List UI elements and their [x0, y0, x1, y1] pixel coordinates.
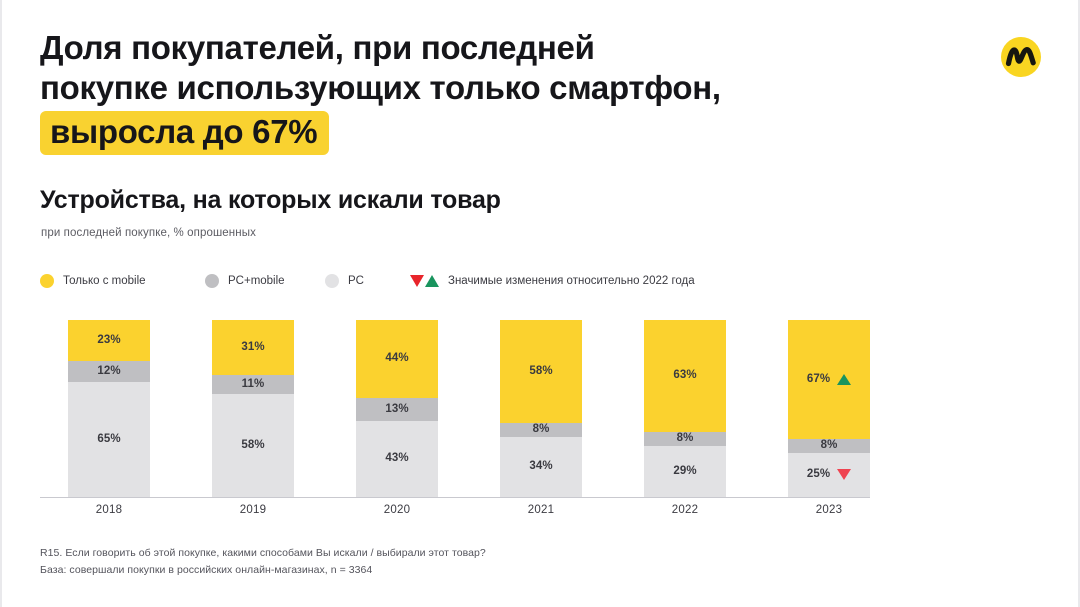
triangle-up-icon — [425, 275, 439, 287]
legend-item-label: Только с mobile — [63, 275, 146, 287]
page-title-line-1: Доля покупателей, при последней — [40, 28, 920, 68]
segment-value-label: 23% — [97, 335, 120, 347]
segment-pc-2020[interactable]: 43% — [356, 421, 438, 497]
segment-value-label: 34% — [529, 461, 552, 473]
segment-pc-plus-mobile-2022[interactable]: 8% — [644, 432, 726, 446]
x-axis-label-2021: 2021 — [500, 504, 582, 516]
triangle-down-icon — [837, 469, 851, 480]
segment-pc-2023[interactable]: 25% — [788, 453, 870, 497]
segment-mobile-only-2021[interactable]: 58% — [500, 320, 582, 423]
bar-2021[interactable]: 58%8%34% — [500, 320, 582, 497]
segment-pc-plus-mobile-2023[interactable]: 8% — [788, 439, 870, 453]
segment-pc-plus-mobile-2018[interactable]: 12% — [68, 361, 150, 382]
segment-value-label: 12% — [97, 366, 120, 378]
legend-swatch-icon — [205, 274, 219, 288]
stacked-bar-chart: 23%12%65%31%11%58%44%13%43%58%8%34%63%8%… — [40, 305, 870, 520]
x-axis-label-2022: 2022 — [644, 504, 726, 516]
segment-value-label: 65% — [97, 434, 120, 446]
slide-canvas: Доля покупателей, при последней покупке … — [0, 0, 1080, 607]
chart-title: Устройства, на которых искали товар — [40, 186, 501, 215]
segment-value-label: 44% — [385, 353, 408, 365]
x-axis-label-2020: 2020 — [356, 504, 438, 516]
segment-value-label: 25% — [807, 469, 830, 481]
segment-value-label: 13% — [385, 404, 408, 416]
significance-triangles-icon — [410, 275, 439, 287]
x-axis-labels: 201820192020202120222023 — [40, 504, 870, 524]
legend-item-label: PC — [348, 275, 364, 287]
segment-pc-2021[interactable]: 34% — [500, 437, 582, 497]
segment-value-label: 58% — [241, 440, 264, 452]
bar-2023[interactable]: 67%8%25% — [788, 320, 870, 497]
segment-value-label: 31% — [241, 342, 264, 354]
segment-pc-2019[interactable]: 58% — [212, 394, 294, 497]
chart-plot-area: 23%12%65%31%11%58%44%13%43%58%8%34%63%8%… — [40, 305, 870, 497]
legend-item-3: PC — [325, 270, 364, 292]
bar-2022[interactable]: 63%8%29% — [644, 320, 726, 497]
triangle-down-icon — [410, 275, 424, 287]
slide-left-border — [0, 0, 2, 607]
segment-value-label: 43% — [385, 453, 408, 465]
footnote-question: R15. Если говорить об этой покупке, каки… — [40, 545, 740, 562]
legend-item-2: PC+mobile — [205, 270, 285, 292]
bar-2019[interactable]: 31%11%58% — [212, 320, 294, 497]
segment-value-label: 8% — [821, 440, 838, 452]
bar-2020[interactable]: 44%13%43% — [356, 320, 438, 497]
segment-mobile-only-2019[interactable]: 31% — [212, 320, 294, 375]
footnotes: R15. Если говорить об этой покупке, каки… — [40, 545, 740, 579]
segment-value-label: 29% — [673, 466, 696, 478]
segment-pc-plus-mobile-2020[interactable]: 13% — [356, 398, 438, 421]
legend-item-label: Значимые изменения относительно 2022 год… — [448, 275, 695, 287]
page-title-highlight-wrap: выросла до 67% — [40, 111, 329, 155]
segment-mobile-only-2022[interactable]: 63% — [644, 320, 726, 432]
segment-mobile-only-2018[interactable]: 23% — [68, 320, 150, 361]
page-title-line-2: покупке использующих только смартфон, — [40, 68, 920, 108]
mediascope-logo-icon — [1000, 36, 1042, 78]
segment-mobile-only-2020[interactable]: 44% — [356, 320, 438, 398]
segment-pc-2022[interactable]: 29% — [644, 446, 726, 497]
segment-value-label: 58% — [529, 366, 552, 378]
x-axis-line — [40, 497, 870, 498]
chart-subtitle: при последней покупке, % опрошенных — [41, 227, 256, 239]
segment-value-label: 8% — [677, 433, 694, 445]
x-axis-label-2023: 2023 — [788, 504, 870, 516]
segment-pc-2018[interactable]: 65% — [68, 382, 150, 497]
footnote-base: База: совершали покупки в российских онл… — [40, 562, 740, 579]
legend-item-1: Только с mobile — [40, 270, 146, 292]
segment-value-label: 11% — [242, 379, 265, 391]
segment-pc-plus-mobile-2021[interactable]: 8% — [500, 423, 582, 437]
segment-mobile-only-2023[interactable]: 67% — [788, 320, 870, 439]
bar-2018[interactable]: 23%12%65% — [68, 320, 150, 497]
segment-value-label: 8% — [533, 424, 550, 436]
legend-item-label: PC+mobile — [228, 275, 285, 287]
legend-swatch-icon — [40, 274, 54, 288]
page-title-highlight: выросла до 67% — [40, 111, 329, 155]
segment-pc-plus-mobile-2019[interactable]: 11% — [212, 375, 294, 394]
segment-value-label: 67% — [807, 374, 830, 386]
legend-swatch-icon — [325, 274, 339, 288]
triangle-up-icon — [837, 374, 851, 385]
segment-value-label: 63% — [673, 370, 696, 382]
x-axis-label-2018: 2018 — [68, 504, 150, 516]
legend-item-4: Значимые изменения относительно 2022 год… — [410, 270, 695, 292]
page-title: Доля покупателей, при последней покупке … — [40, 28, 920, 155]
x-axis-label-2019: 2019 — [212, 504, 294, 516]
